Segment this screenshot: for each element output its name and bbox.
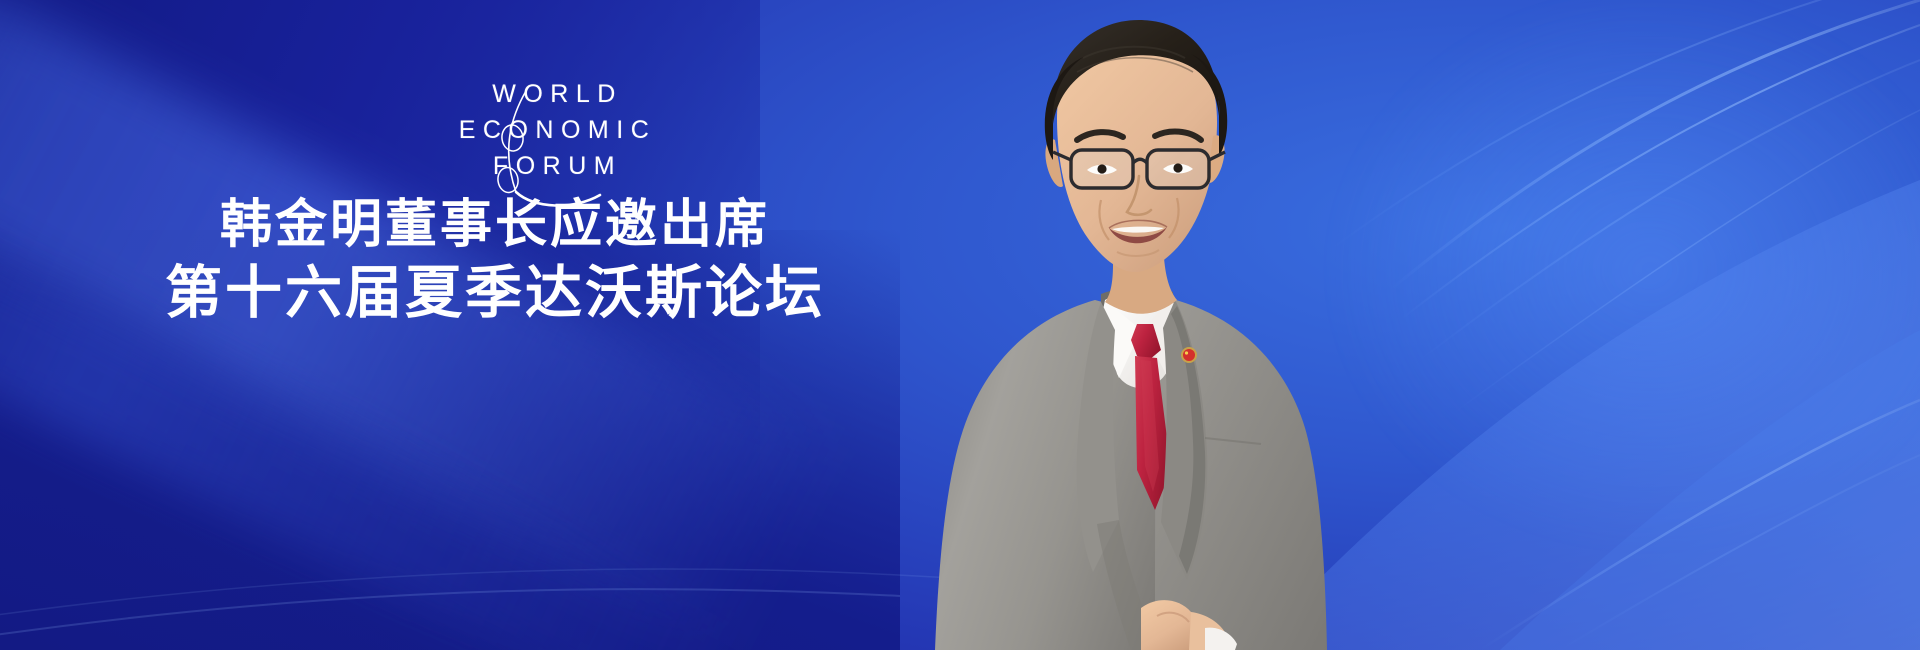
wef-logo-line-economic: ECONOMIC (424, 118, 684, 143)
wef-summer-davos-banner: WORLD ECONOMIC FORUM 韩金明董事长应邀出席 第十六届夏季达沃… (0, 0, 1920, 650)
headline-block: 韩金明董事长应邀出席 第十六届夏季达沃斯论坛 (0, 196, 990, 326)
world-economic-forum-logo: WORLD ECONOMIC FORUM (424, 82, 684, 192)
wef-logo-line-forum: FORUM (424, 154, 684, 179)
portrait-illustration (905, 0, 1375, 650)
headline-line-1: 韩金明董事长应邀出席 (0, 196, 990, 254)
man-in-gray-suit-portrait (905, 0, 1375, 650)
headline-line-2: 第十六届夏季达沃斯论坛 (0, 262, 990, 326)
wef-logo-line-world: WORLD (424, 82, 684, 107)
